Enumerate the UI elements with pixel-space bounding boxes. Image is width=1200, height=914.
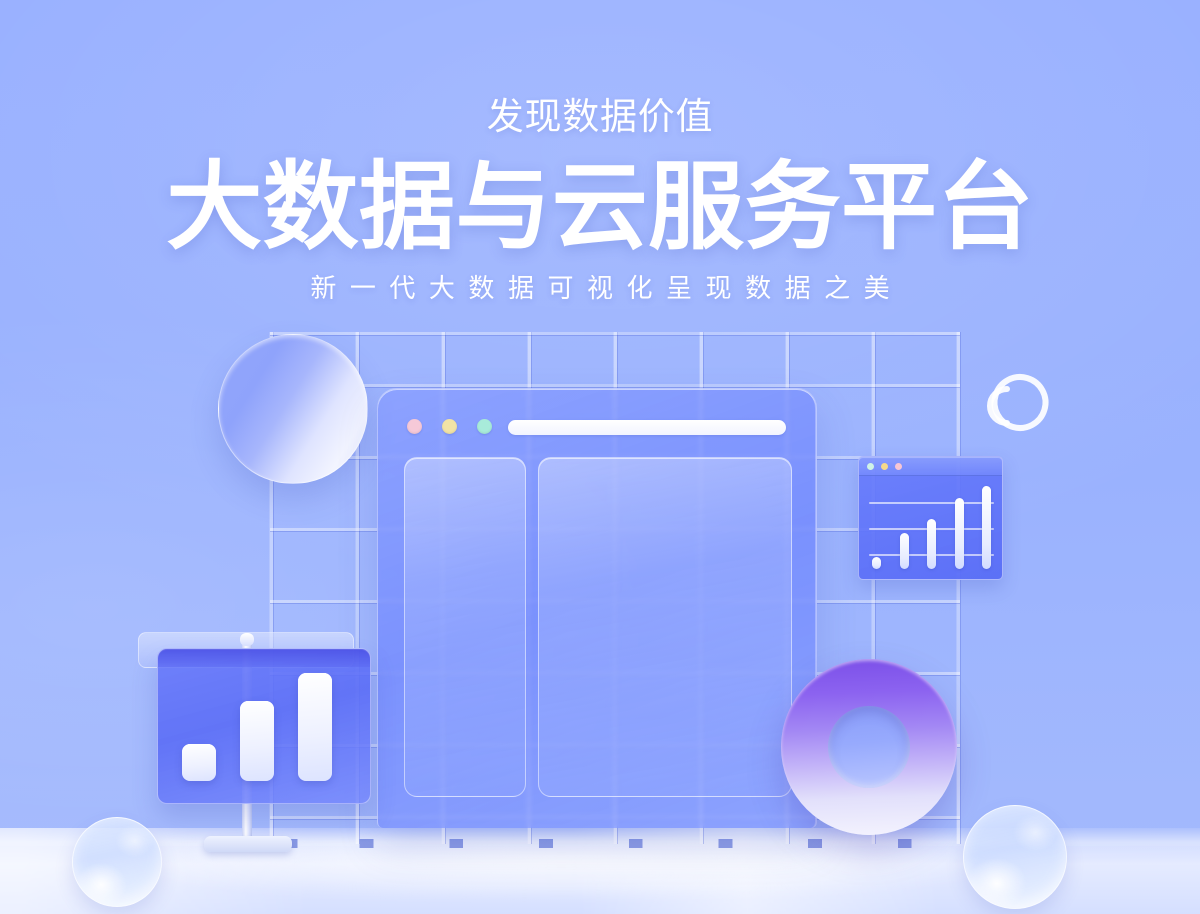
monitor-stand-base bbox=[204, 836, 292, 852]
close-dot[interactable] bbox=[867, 463, 874, 470]
mini-window-controls bbox=[867, 463, 902, 470]
hero-banner: 发现数据价值 大数据与云服务平台 新一代大数据可视化呈现数据之美 bbox=[0, 0, 1200, 914]
monitor-screen-header bbox=[158, 649, 370, 667]
hero-copy: 发现数据价值 大数据与云服务平台 新一代大数据可视化呈现数据之美 bbox=[0, 0, 1200, 304]
subtitle-text: 新一代大数据可视化呈现数据之美 bbox=[0, 273, 1200, 304]
monitor-screen bbox=[157, 648, 371, 804]
glass-sphere bbox=[963, 805, 1067, 909]
browser-mockup[interactable] bbox=[377, 388, 817, 828]
chart-bar bbox=[927, 519, 936, 569]
monitor-chart-bars bbox=[182, 673, 352, 781]
chart-bar bbox=[182, 744, 216, 781]
address-bar[interactable] bbox=[508, 420, 786, 435]
maximize-dot[interactable] bbox=[895, 463, 902, 470]
chart-bar bbox=[298, 673, 332, 781]
glass-disc bbox=[218, 334, 368, 484]
sidebar-panel[interactable] bbox=[404, 457, 526, 797]
close-dot[interactable] bbox=[407, 419, 422, 434]
mini-chart-plot bbox=[869, 483, 994, 569]
donut-chart-ring bbox=[781, 659, 957, 835]
minimize-dot[interactable] bbox=[442, 419, 457, 434]
page-title: 大数据与云服务平台 bbox=[0, 160, 1200, 256]
bar-chart-window[interactable] bbox=[858, 456, 1003, 580]
chart-bar bbox=[900, 533, 909, 569]
chart-bar bbox=[955, 498, 964, 569]
window-controls bbox=[407, 419, 492, 434]
chart-bar bbox=[872, 557, 881, 569]
chart-bar bbox=[240, 701, 274, 781]
cloud-icon bbox=[975, 363, 1067, 441]
content-panel[interactable] bbox=[538, 457, 792, 797]
eyebrow-text: 发现数据价值 bbox=[0, 96, 1200, 139]
minimize-dot[interactable] bbox=[881, 463, 888, 470]
mini-window-titlebar bbox=[859, 457, 1002, 476]
chart-bar bbox=[982, 486, 991, 569]
glass-sphere bbox=[72, 817, 162, 907]
mini-chart-bars bbox=[872, 483, 991, 569]
maximize-dot[interactable] bbox=[477, 419, 492, 434]
